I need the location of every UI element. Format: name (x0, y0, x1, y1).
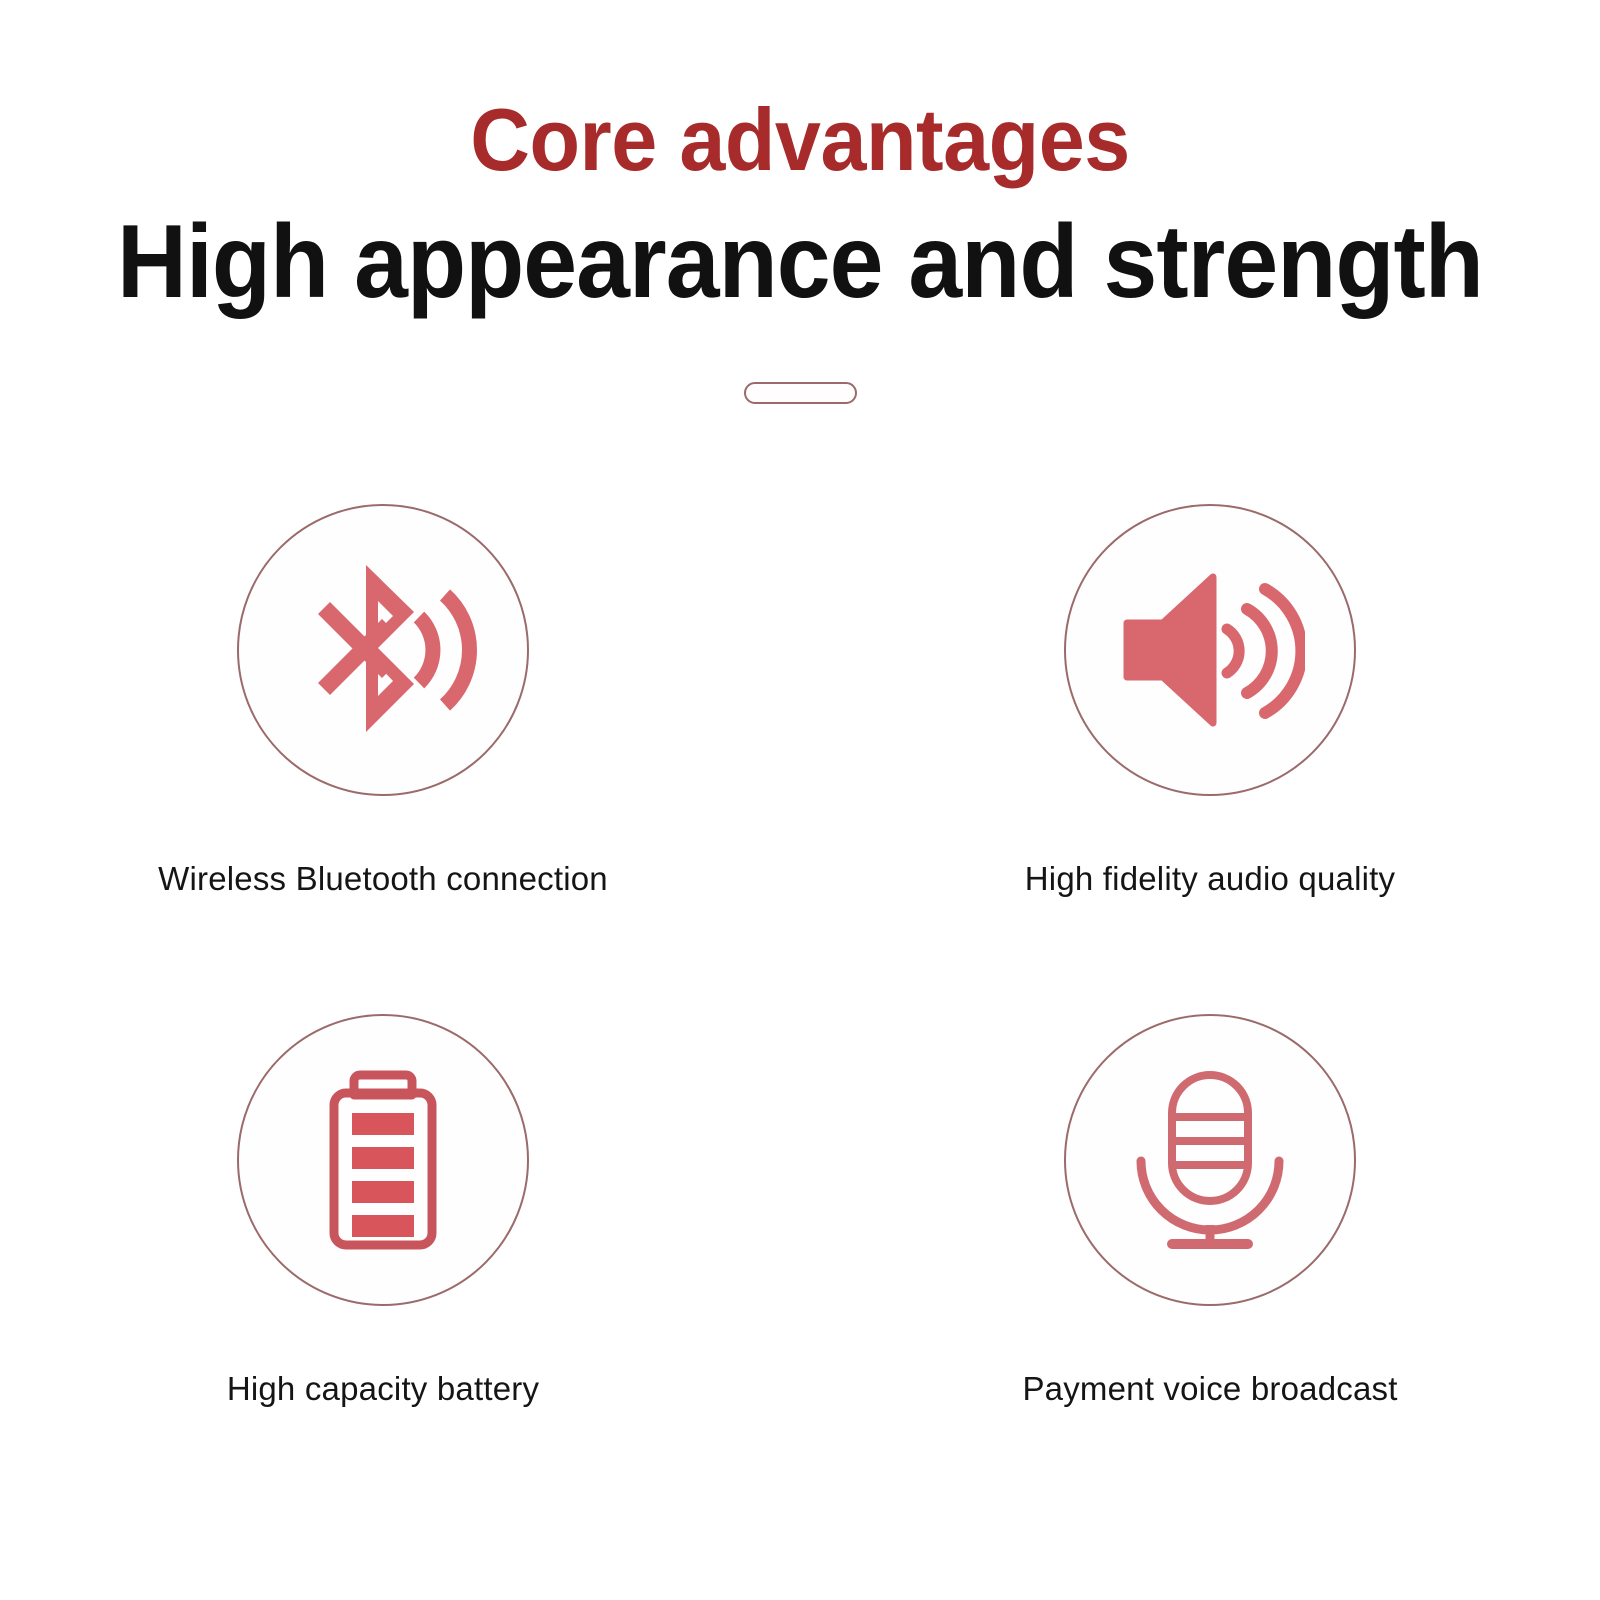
speaker-volume-icon (1115, 555, 1305, 745)
feature-label: Payment voice broadcast (1022, 1370, 1397, 1408)
feature-item-audio: High fidelity audio quality (860, 504, 1560, 898)
page-title-secondary: High appearance and strength (56, 184, 1544, 314)
feature-label: High fidelity audio quality (1025, 860, 1395, 898)
feature-icon-circle (237, 1014, 529, 1306)
bluetooth-wireless-icon (288, 555, 478, 745)
pill-divider (744, 382, 857, 404)
feature-item-bluetooth: Wireless Bluetooth connection (33, 504, 733, 898)
feature-label: Wireless Bluetooth connection (158, 860, 608, 898)
battery-full-icon (288, 1065, 478, 1255)
divider-container (0, 382, 1600, 404)
feature-item-microphone: Payment voice broadcast (860, 1014, 1560, 1408)
page-header: Core advantages High appearance and stre… (0, 0, 1600, 314)
feature-icon-circle (1064, 504, 1356, 796)
feature-label: High capacity battery (227, 1370, 539, 1408)
promo-page: Core advantages High appearance and stre… (0, 0, 1600, 1600)
page-title-primary: Core advantages (48, 96, 1552, 184)
feature-icon-circle (237, 504, 529, 796)
microphone-icon (1115, 1065, 1305, 1255)
feature-icon-circle (1064, 1014, 1356, 1306)
feature-grid: Wireless Bluetooth connection High fidel… (0, 504, 1600, 1408)
feature-item-battery: High capacity battery (33, 1014, 733, 1408)
